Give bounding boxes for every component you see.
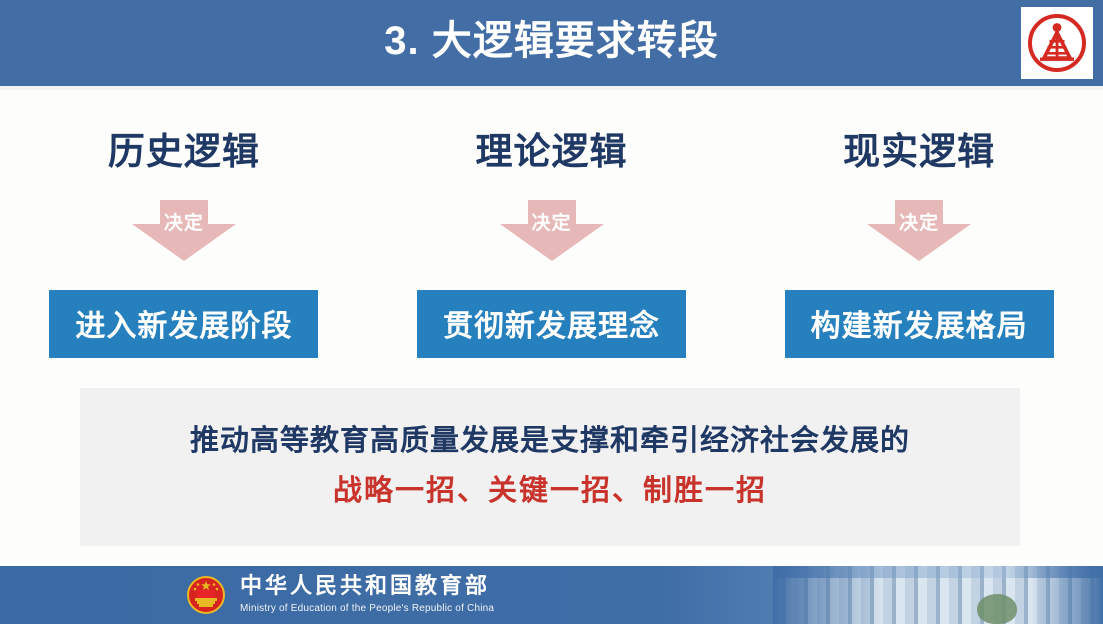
column-title: 历史逻辑 — [108, 128, 260, 176]
column-title: 现实逻辑 — [843, 128, 995, 176]
header-divider — [0, 86, 1103, 90]
ministry-name-en: Ministry of Education of the People's Re… — [240, 601, 494, 617]
page-title: 3. 大逻辑要求转段 — [0, 0, 1103, 86]
decides-arrow-icon: 决定 — [132, 200, 236, 264]
arrow-label: 决定 — [867, 208, 971, 235]
decides-arrow-icon: 决定 — [500, 200, 604, 264]
arrow-label: 决定 — [132, 208, 236, 235]
conclusion-line-1: 推动高等教育高质量发展是支撑和牵引经济社会发展的 — [190, 419, 910, 463]
logic-column-historical: 历史逻辑 决定 进入新发展阶段 — [0, 128, 368, 368]
china-national-emblem-icon — [186, 575, 226, 615]
conclusion-panel: 推动高等教育高质量发展是支撑和牵引经济社会发展的 战略一招、关键一招、制胜一招 — [80, 388, 1020, 546]
ministry-name-cn: 中华人民共和国教育部 — [240, 572, 494, 600]
ministry-building-photo-sky — [773, 566, 1103, 578]
presentation-slide: 3. 大逻辑要求转段 历史逻辑 决定 进入新发展阶段 — [0, 0, 1103, 624]
decides-arrow-icon: 决定 — [867, 200, 971, 264]
logic-column-realistic: 现实逻辑 决定 构建新发展格局 — [735, 128, 1103, 368]
china-national-emblem — [186, 575, 226, 615]
result-box-historical[interactable]: 进入新发展阶段 — [49, 290, 318, 358]
column-title: 理论逻辑 — [476, 128, 628, 176]
arrow-label: 决定 — [500, 208, 604, 235]
slide-header-bar: 3. 大逻辑要求转段 — [0, 0, 1103, 86]
university-crest-icon — [1025, 11, 1089, 75]
conclusion-line-2: 战略一招、关键一招、制胜一招 — [333, 467, 767, 515]
slide-footer: 中华人民共和国教育部 Ministry of Education of the … — [0, 566, 1103, 624]
university-crest-logo — [1021, 7, 1093, 79]
footer-text-block: 中华人民共和国教育部 Ministry of Education of the … — [240, 572, 494, 617]
logic-column-theoretical: 理论逻辑 决定 贯彻新发展理念 — [368, 128, 736, 368]
result-box-theoretical[interactable]: 贯彻新发展理念 — [417, 290, 686, 358]
logic-columns: 历史逻辑 决定 进入新发展阶段 理论逻辑 决定 贯彻新发展理念 现实逻辑 决定 — [0, 128, 1103, 368]
ministry-building-tree — [977, 594, 1017, 624]
result-box-realistic[interactable]: 构建新发展格局 — [785, 290, 1054, 358]
